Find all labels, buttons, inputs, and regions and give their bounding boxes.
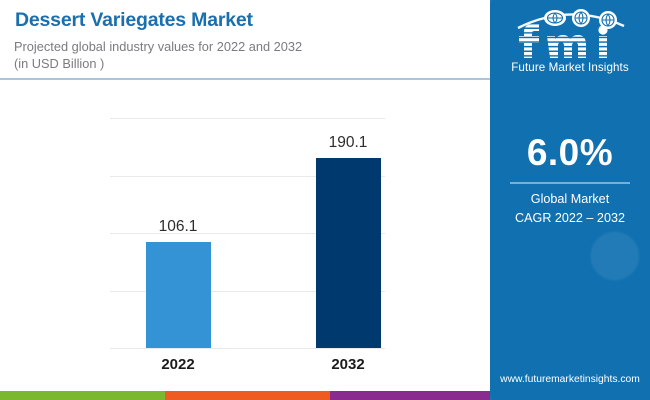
fmi-logo-icon	[504, 6, 636, 58]
bar-2032[interactable]	[316, 158, 381, 348]
gridline	[110, 348, 385, 349]
x-axis-label-2022: 2022	[128, 356, 228, 373]
logo-letter-m	[547, 35, 586, 58]
cagr-divider	[510, 182, 630, 184]
x-axis-label-2032: 2032	[298, 356, 398, 373]
brand-tagline: Future Market Insights	[490, 61, 650, 74]
footer-strip-segment-3	[330, 391, 490, 400]
fmi-logo: Future Market Insights	[490, 6, 650, 74]
gridline	[110, 118, 385, 119]
footer-color-strip	[0, 391, 490, 400]
header-divider	[0, 78, 490, 80]
chart-panel: Dessert Variegates Market Projected glob…	[0, 0, 490, 400]
logo-letter-f	[519, 24, 539, 58]
bar-value-label-2032: 190.1	[298, 134, 398, 152]
footer-strip-segment-1	[0, 391, 165, 400]
globe-icon-2	[572, 9, 590, 27]
cagr-caption: Global Market CAGR 2022 – 2032	[490, 190, 650, 228]
page-title: Dessert Variegates Market	[15, 9, 253, 32]
logo-letter-i	[598, 25, 607, 58]
globe-icon-1	[544, 10, 566, 26]
fmi-logo-mark	[504, 6, 636, 58]
bar-value-label-2022: 106.1	[128, 218, 228, 236]
website-url: www.futuremarketinsights.com	[490, 374, 650, 385]
cagr-value: 6.0%	[490, 132, 650, 174]
market-infographic: Dessert Variegates Market Projected glob…	[0, 0, 650, 400]
brand-panel: Future Market Insights 6.0% Global Marke…	[490, 0, 650, 400]
bar-chart-plot: 106.12022190.12032	[110, 118, 385, 348]
chart-header: Dessert Variegates Market Projected glob…	[0, 0, 490, 80]
bar-2022[interactable]	[146, 242, 211, 348]
chart-subtitle: Projected global industry values for 202…	[14, 38, 302, 72]
footer-strip-segment-2	[165, 391, 330, 400]
